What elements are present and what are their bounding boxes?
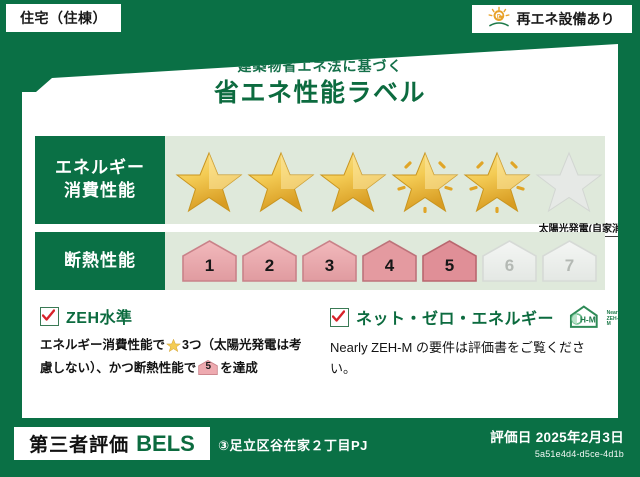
insulation-badge-2: 2 [241, 239, 298, 283]
bels-certification-badge: 第三者評価 BELS [14, 427, 210, 460]
zeh-m-logo-sub2: ZEH-M [607, 317, 623, 328]
insulation-performance-row: 断熱性能 [35, 232, 605, 290]
net-zero-energy-title: ネット・ゼロ・エネルギー [356, 305, 554, 329]
insulation-badge-value: 1 [205, 256, 214, 283]
page-title: 建築物省エネ法に基づく 省エネ性能ラベル [22, 58, 618, 107]
zeh-m-logo: H-M Nearly ZEH-M [567, 304, 622, 330]
document-type-label: 住宅（住棟） [20, 8, 107, 28]
bels-label-en: BELS [136, 431, 195, 457]
checkmark-icon [40, 307, 59, 326]
zeh-desc-part1: エネルギー消費性能で [40, 338, 165, 352]
label-panel: 建築物省エネ法に基づく 省エネ性能ラベル エネルギー 消費性能 [22, 40, 618, 418]
inline-badge-value: 5 [198, 359, 218, 376]
insulation-badge-5: 5 [421, 239, 478, 283]
insulation-performance-value: 1 2 3 [165, 232, 605, 290]
evaluation-date-block: 評価日 2025年2月3日 5a51e4d4-d5ce-4d1b [490, 426, 624, 459]
insulation-badge-value: 7 [565, 256, 574, 283]
energy-performance-label: エネルギー 消費性能 [35, 136, 165, 224]
insulation-badge-7: 7 [541, 239, 598, 283]
insulation-badge-4: 4 [361, 239, 418, 283]
energy-performance-value: 太陽光発電(自家消費)分 [165, 136, 605, 224]
star-rating [165, 136, 605, 224]
insulation-badge-3: 3 [301, 239, 358, 283]
heading-title: 省エネ性能ラベル [22, 80, 618, 108]
insulation-performance-label: 断熱性能 [35, 232, 165, 290]
insulation-badge-value: 3 [325, 256, 334, 283]
zeh-standard-description: エネルギー消費性能で3つ（太陽光発電は考慮しない）、かつ断熱性能で5を達成 [40, 335, 312, 379]
insulation-badge-icon-inline: 5 [198, 359, 218, 376]
document-type-tag: 住宅（住棟） [6, 4, 121, 32]
evaluation-id: 5a51e4d4-d5ce-4d1b [490, 449, 624, 459]
energy-label-card: 住宅（住棟） D 再エネ設備あり 建築物省エネ法に基 [0, 0, 640, 477]
sun-icon: D [486, 6, 512, 33]
checkmark-icon [330, 308, 349, 327]
insulation-badge-6: 6 [481, 239, 538, 283]
star-filled-2 [247, 147, 315, 213]
net-zero-energy-description: Nearly ZEH-M の要件は評価書をご覧ください。 [330, 337, 602, 379]
star-empty-6 [535, 147, 603, 213]
star-filled-1 [175, 147, 243, 213]
evaluation-date: 評価日 2025年2月3日 [490, 426, 624, 446]
insulation-badge-value: 4 [385, 256, 394, 283]
insulation-badge-value: 5 [445, 256, 454, 283]
footer: 第三者評価 BELS ③足立区谷在家２丁目PJ 評価日 2025年2月3日 5a… [0, 424, 640, 477]
heading-subtitle: 建築物省エネ法に基づく [22, 58, 618, 75]
renewable-energy-label: 再エネ設備あり [517, 9, 615, 29]
insulation-badge-1: 1 [181, 239, 238, 283]
energy-performance-row: エネルギー 消費性能 [35, 136, 605, 224]
star-icon-inline [166, 338, 181, 358]
insulation-badge-scale: 1 2 3 [165, 232, 605, 290]
star-filled-solar-4 [391, 147, 459, 213]
zeh-m-logo-text: H-M [580, 314, 596, 324]
zeh-desc-part3: を達成 [220, 361, 258, 375]
zeh-standard-title: ZEH水準 [66, 304, 133, 328]
star-filled-solar-5 [463, 147, 531, 213]
insulation-badge-value: 2 [265, 256, 274, 283]
project-name: ③足立区谷在家２丁目PJ [218, 435, 368, 454]
net-zero-energy-block: ネット・ゼロ・エネルギー H-M Nearly ZEH-M [330, 304, 602, 379]
svg-text:D: D [496, 14, 501, 20]
renewable-energy-tag: D 再エネ設備あり [472, 5, 632, 33]
star-filled-3 [319, 147, 387, 213]
insulation-badge-value: 6 [505, 256, 514, 283]
bels-label-jp: 第三者評価 [29, 430, 129, 457]
zeh-standard-block: ZEH水準 エネルギー消費性能で3つ（太陽光発電は考慮しない）、かつ断熱性能で5… [40, 304, 312, 379]
